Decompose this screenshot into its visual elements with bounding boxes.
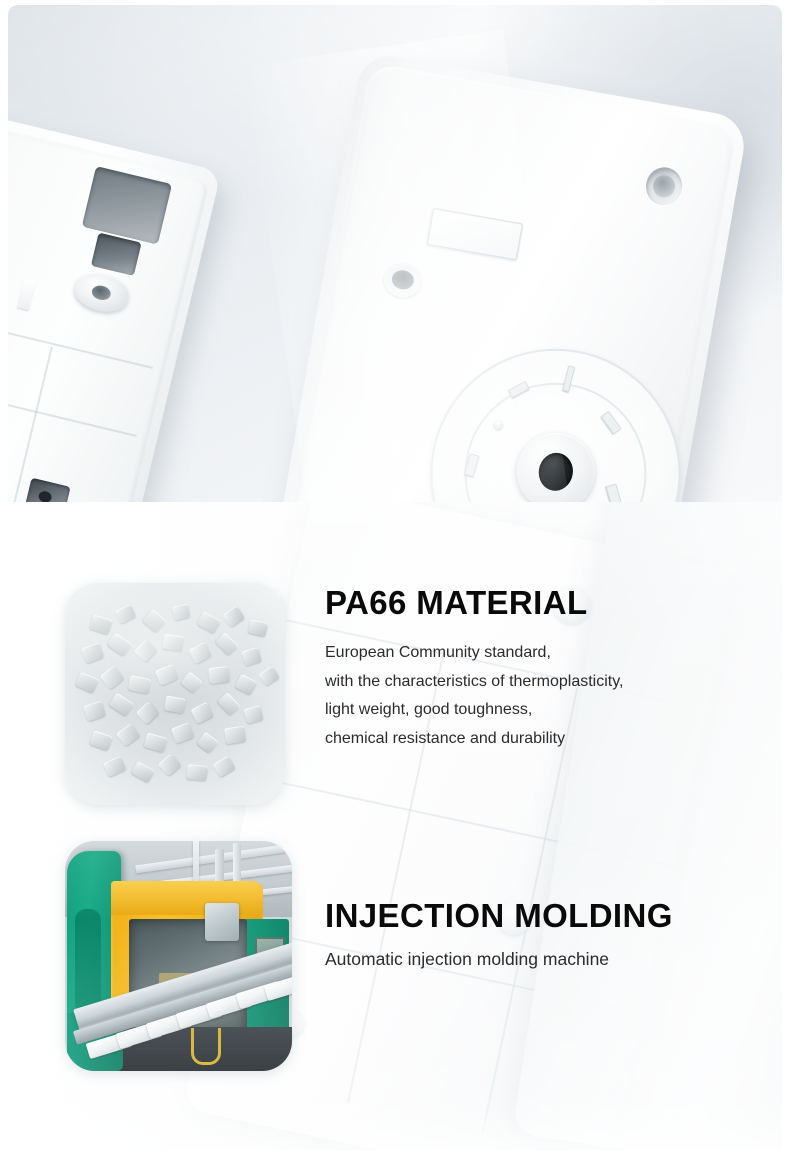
feature-injection-molding: INJECTION MOLDING Automatic injection mo… bbox=[65, 841, 673, 1071]
feature-pa66-material: PA66 MATERIAL European Community standar… bbox=[65, 583, 623, 805]
pa66-copy-block: PA66 MATERIAL European Community standar… bbox=[325, 583, 623, 753]
cover-cable-entry-hole bbox=[381, 260, 424, 300]
shell-groove bbox=[8, 347, 52, 502]
pa66-description-line: European Community standard, bbox=[325, 639, 623, 668]
product-detail-page: PA66 MATERIAL European Community standar… bbox=[0, 0, 790, 1174]
pellets-photo bbox=[65, 583, 285, 805]
cover-plate-face bbox=[284, 63, 737, 502]
pa66-description-line: chemical resistance and durability bbox=[325, 725, 623, 754]
injection-molding-machine-photo bbox=[65, 841, 292, 1071]
injection-molding-heading: INJECTION MOLDING bbox=[325, 898, 673, 934]
cover-mounting-hole-top-right bbox=[643, 164, 685, 208]
machine-yellow-top-cowl bbox=[111, 881, 263, 915]
machine-green-window bbox=[75, 909, 101, 1015]
bottom-white-strip bbox=[0, 1150, 790, 1174]
pa66-description-list: European Community standard, with the ch… bbox=[325, 639, 623, 753]
injection-molding-subtitle: Automatic injection molding machine bbox=[325, 948, 673, 971]
injection-molding-thumbnail bbox=[65, 841, 292, 1071]
shell-groove bbox=[8, 367, 137, 436]
pa66-heading: PA66 MATERIAL bbox=[325, 585, 623, 621]
pa66-description-line: with the characteristics of thermoplasti… bbox=[325, 668, 623, 697]
shell-groove bbox=[8, 299, 153, 368]
shell-rim bbox=[8, 106, 210, 502]
hero-photo-canvas bbox=[8, 5, 782, 502]
shell-dark-notch bbox=[82, 166, 172, 244]
shell-screw-boss bbox=[71, 269, 132, 317]
shell-rib bbox=[17, 278, 36, 310]
robot-gripper-head bbox=[205, 903, 239, 941]
cover-label-recess bbox=[426, 207, 523, 260]
hero-product-photo bbox=[8, 5, 782, 502]
pa66-pellets-thumbnail bbox=[65, 583, 285, 805]
injection-molding-copy-block: INJECTION MOLDING Automatic injection mo… bbox=[325, 841, 673, 971]
shell-dark-tab bbox=[25, 478, 71, 502]
features-section: PA66 MATERIAL European Community standar… bbox=[8, 502, 782, 1150]
cover-rotary-dial bbox=[411, 329, 701, 502]
pa66-description-line: light weight, good toughness, bbox=[325, 696, 623, 725]
machine-hook bbox=[191, 1028, 221, 1065]
